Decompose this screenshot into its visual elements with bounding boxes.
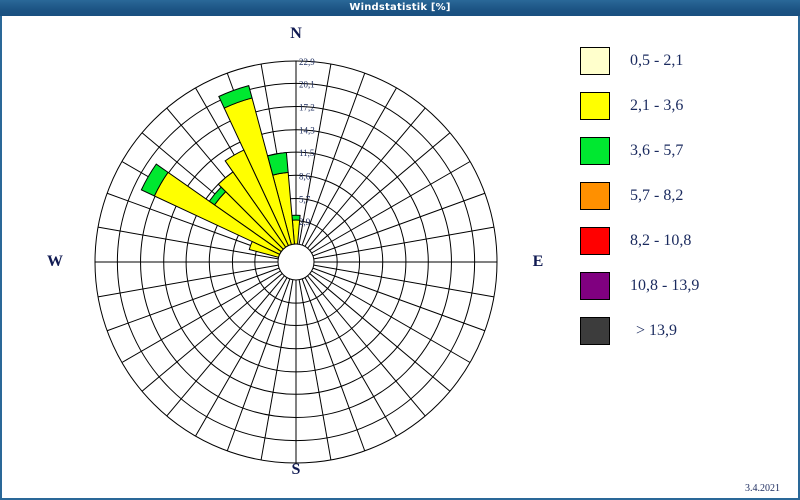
legend-label: 3,6 - 5,7 xyxy=(630,142,683,160)
compass-label-east: E xyxy=(533,253,544,270)
window-client-area: 2,95,78,611,514,317,220,122,9 N S W E 0,… xyxy=(0,16,800,500)
compass-label-north: N xyxy=(290,25,302,42)
legend-label: 5,7 - 8,2 xyxy=(630,187,683,205)
windrose-window: Windstatistik [%] 2,95,78,611,514,317,22… xyxy=(0,0,800,500)
radial-tick-label: 22,9 xyxy=(299,57,315,67)
legend-swatch xyxy=(580,137,610,165)
speed-legend: 0,5 - 2,1 2,1 - 3,6 3,6 - 5,7 5,7 - 8,2 … xyxy=(580,38,790,353)
legend-label: 2,1 - 3,6 xyxy=(630,97,683,115)
legend-label: 10,8 - 13,9 xyxy=(630,277,699,295)
radial-tick-label: 14,3 xyxy=(299,126,315,136)
legend-swatch xyxy=(580,92,610,120)
radial-tick-label: 8,6 xyxy=(299,171,311,181)
legend-item: 8,2 - 10,8 xyxy=(580,218,790,263)
radial-tick-label: 20,1 xyxy=(299,79,315,89)
legend-swatch xyxy=(580,182,610,210)
radial-tick-label: 17,2 xyxy=(299,103,315,113)
center-hole xyxy=(278,244,314,280)
window-title: Windstatistik [%] xyxy=(0,0,800,16)
window-titlebar: Windstatistik [%] xyxy=(0,0,800,17)
legend-swatch xyxy=(580,227,610,255)
legend-item: 0,5 - 2,1 xyxy=(580,38,790,83)
legend-item: 5,7 - 8,2 xyxy=(580,173,790,218)
legend-swatch xyxy=(580,47,610,75)
wind-rose-svg: 2,95,78,611,514,317,220,122,9 N S W E xyxy=(2,16,558,496)
radial-tick-label: 2,9 xyxy=(299,217,311,227)
legend-item: > 13,9 xyxy=(580,308,790,353)
radial-tick-label: 11,5 xyxy=(299,148,315,158)
footer-date: 3.4.2021 xyxy=(745,483,780,494)
legend-item: 2,1 - 3,6 xyxy=(580,83,790,128)
radial-tick-labels: 2,95,78,611,514,317,220,122,9 xyxy=(299,57,315,227)
legend-label: > 13,9 xyxy=(636,322,677,340)
compass-label-west: W xyxy=(47,253,63,270)
legend-label: 0,5 - 2,1 xyxy=(630,52,683,70)
legend-swatch xyxy=(580,317,610,345)
petal-layer xyxy=(141,86,300,258)
legend-item: 10,8 - 13,9 xyxy=(580,263,790,308)
legend-label: 8,2 - 10,8 xyxy=(630,232,691,250)
compass-label-south: S xyxy=(292,461,301,478)
legend-item: 3,6 - 5,7 xyxy=(580,128,790,173)
legend-swatch xyxy=(580,272,610,300)
wind-rose-chart: 2,95,78,611,514,317,220,122,9 N S W E xyxy=(2,16,558,496)
radial-tick-label: 5,7 xyxy=(299,194,311,204)
